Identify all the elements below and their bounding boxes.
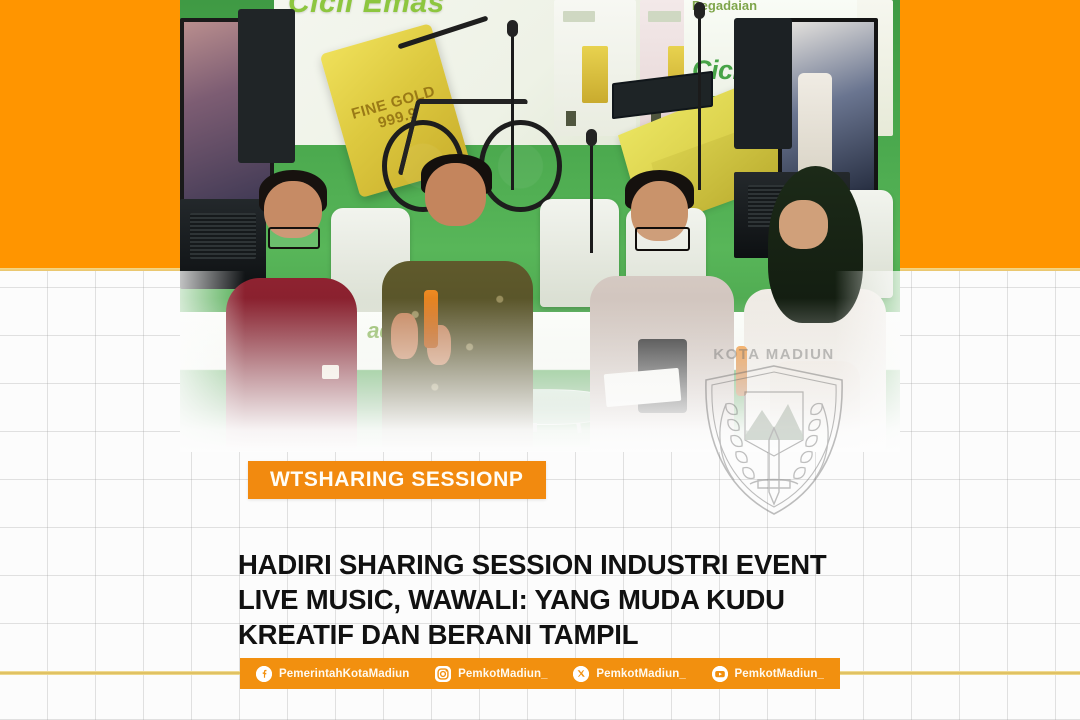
social-item-facebook[interactable]: PemerintahKotaMadiun bbox=[256, 666, 409, 682]
x-twitter-icon bbox=[573, 666, 589, 682]
mic-stand bbox=[698, 9, 701, 190]
orange-block-right bbox=[900, 0, 1080, 268]
headline-line-2: LIVE MUSIC, WAWALI: YANG MUDA KUDU bbox=[238, 582, 858, 617]
social-media-bar: PemerintahKotaMadiun PemkotMadiun_ P bbox=[240, 658, 840, 689]
speaker-box-top-left bbox=[238, 9, 296, 163]
social-item-youtube[interactable]: PemkotMadiun_ bbox=[712, 666, 824, 682]
backdrop-brand-text: Cicil Emas bbox=[288, 0, 445, 20]
speaker-red-polo bbox=[223, 181, 360, 452]
gold-underline-left bbox=[0, 268, 180, 271]
orange-block-left bbox=[0, 0, 180, 268]
handheld-microphone bbox=[424, 290, 438, 348]
youtube-handle: PemkotMadiun_ bbox=[735, 668, 824, 680]
handheld-microphone bbox=[736, 346, 748, 396]
headline-line-3: KREATIF DAN BERANI TAMPIL bbox=[238, 617, 858, 652]
instagram-icon bbox=[435, 666, 451, 682]
social-item-instagram[interactable]: PemkotMadiun_ bbox=[435, 666, 547, 682]
speaker-box-top-right bbox=[734, 18, 792, 149]
youtube-icon bbox=[712, 666, 728, 682]
status-badge: WTSHARING SESSIONP bbox=[248, 461, 546, 499]
page-title: HADIRI SHARING SESSION INDUSTRI EVENT LI… bbox=[238, 547, 858, 653]
speaker-hijab bbox=[742, 172, 886, 452]
facebook-handle: PemerintahKotaMadiun bbox=[279, 668, 409, 680]
speaker-grey-blazer bbox=[590, 181, 734, 452]
poster-canvas: Cicil Emas Pegadaian Cicil Emas FINE GOL… bbox=[0, 0, 1080, 720]
headline-line-1: HADIRI SHARING SESSION INDUSTRI EVENT bbox=[238, 547, 858, 582]
gold-underline-right bbox=[900, 268, 1080, 271]
x-twitter-handle: PemkotMadiun_ bbox=[596, 668, 685, 680]
facebook-icon bbox=[256, 666, 272, 682]
event-photo-scene: Cicil Emas Pegadaian Cicil Emas FINE GOL… bbox=[180, 0, 900, 452]
event-photo: Cicil Emas Pegadaian Cicil Emas FINE GOL… bbox=[180, 0, 900, 452]
badge-label: WTSHARING SESSIONP bbox=[270, 468, 524, 492]
speaker-batik bbox=[382, 163, 533, 452]
instagram-handle: PemkotMadiun_ bbox=[458, 668, 547, 680]
social-item-x-twitter[interactable]: PemkotMadiun_ bbox=[573, 666, 685, 682]
